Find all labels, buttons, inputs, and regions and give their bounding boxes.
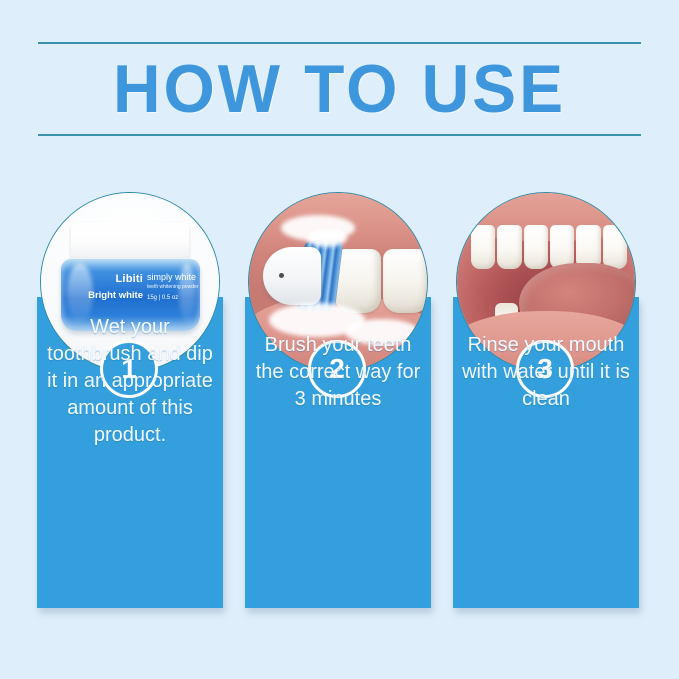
product-brand-sub: Bright white (69, 289, 143, 303)
toothbrush-head (263, 247, 321, 305)
upper-tooth (497, 225, 521, 269)
brush-head-hole (279, 273, 284, 278)
product-descriptor: teeth whitening powder (147, 283, 199, 291)
tooth-molar-1 (335, 249, 381, 313)
title-rule-top (38, 42, 641, 44)
jar-label-left: Libiti Bright white (69, 273, 143, 303)
steps-row: Libiti Bright white simply white teeth w… (0, 192, 679, 622)
step-card-1: Libiti Bright white simply white teeth w… (37, 192, 223, 618)
step-card-2: 2 Brush your teeth the correct way for 3… (245, 192, 431, 618)
tooth-molar-2 (383, 249, 428, 313)
step-card-3: 3 Rinse your mouth with water until it i… (453, 192, 639, 618)
step-caption-3: Rinse your mouth with water until it is … (459, 332, 633, 413)
upper-tooth (471, 225, 495, 269)
step-caption-1: Wet your toothbrush and dip it in an app… (43, 314, 217, 449)
title-rule-bottom (38, 134, 641, 136)
header-banner: HOW TO USE (0, 42, 679, 142)
product-name: simply white (147, 272, 199, 283)
jar-label-right: simply white teeth whitening powder 15g … (147, 272, 199, 303)
toothpaste-foam-4 (307, 229, 347, 247)
step-caption-2: Brush your teeth the correct way for 3 m… (251, 332, 425, 413)
product-net-weight: 15g | 0.5 oz (147, 293, 199, 303)
upper-tooth (524, 225, 548, 269)
upper-teeth-row (471, 225, 627, 269)
upper-tooth (603, 225, 627, 269)
page-title: HOW TO USE (10, 50, 669, 128)
product-brand: Libiti (69, 273, 143, 286)
